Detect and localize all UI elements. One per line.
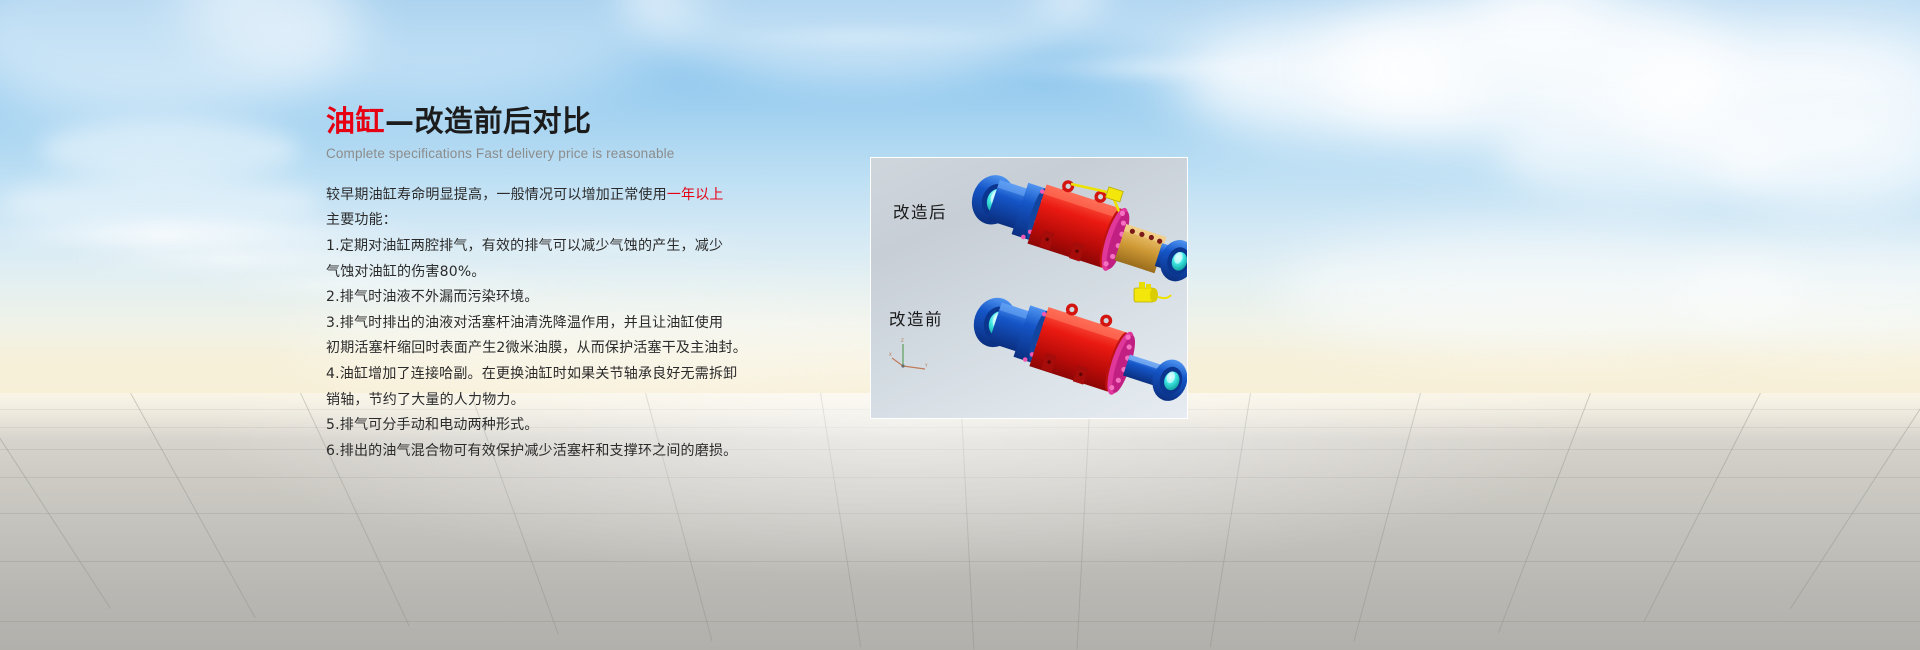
feature-text: 初期活塞杆缩回时表面产生2微米油膜，从而保护活塞干及主油封。: [326, 340, 747, 356]
tile-line-horizontal: [0, 477, 1920, 478]
page-subtitle: Complete specifications Fast delivery pr…: [326, 146, 866, 161]
cloud-wisp: [980, 60, 1400, 76]
label-before-modification: 改造前: [889, 306, 943, 330]
feature-line: 2.排气时油液不外漏而污染环境。: [326, 285, 866, 311]
ground-plane: [0, 393, 1920, 650]
feature-line: 主要功能：: [326, 208, 866, 234]
feature-emphasis: 一年以上: [667, 187, 724, 203]
cylinder-after-graphic: [959, 166, 1188, 288]
copy-block: 油缸—改造前后对比 Complete specifications Fast d…: [326, 104, 866, 464]
svg-text:Z: Z: [901, 338, 904, 343]
feature-text: 1.定期对油缸两腔排气，有效的排气可以减少气蚀的产生，减少: [326, 238, 723, 254]
page-title-rest: —改造前后对比: [385, 104, 592, 138]
feature-line: 1.定期对油缸两腔排气，有效的排气可以减少气蚀的产生，减少: [326, 234, 866, 260]
feature-line: 4.油缸增加了连接哈副。在更换油缸时如果关节轴承良好无需拆卸: [326, 362, 866, 388]
feature-text: 较早期油缸寿命明显提高，一般情况可以增加正常使用: [326, 187, 667, 203]
cloud-shape: [40, 120, 300, 180]
tile-line-horizontal: [0, 513, 1920, 514]
feature-text: 气蚀对油缸的伤害80%。: [326, 264, 486, 280]
feature-line: 较早期油缸寿命明显提高，一般情况可以增加正常使用一年以上: [326, 183, 866, 209]
label-after-modification: 改造后: [893, 199, 947, 223]
tile-line-vertical: [1354, 393, 1421, 641]
tile-line-horizontal: [0, 449, 1920, 450]
page-title-highlight: 油缸: [326, 104, 385, 138]
feature-line: 销轴，节约了大量的人力物力。: [326, 388, 866, 414]
feature-text: 主要功能：: [326, 212, 397, 228]
tile-line-vertical: [0, 393, 111, 609]
feature-text: 5.排气可分手动和电动两种形式。: [326, 417, 539, 433]
coordinate-axis-icon: Z X Y: [889, 336, 931, 374]
svg-text:X: X: [889, 352, 892, 357]
tile-line-vertical: [1210, 393, 1251, 647]
svg-text:Y: Y: [924, 363, 928, 368]
feature-text: 6.排出的油气混合物可有效保护减少活塞杆和支撑环之间的磨损。: [326, 443, 737, 459]
feature-text: 销轴，节约了大量的人力物力。: [326, 392, 525, 408]
product-comparison-panel: 改造后 改造前 Z X Y: [870, 157, 1188, 419]
feature-text: 4.油缸增加了连接哈副。在更换油缸时如果关节轴承良好无需拆卸: [326, 366, 737, 382]
tile-line-horizontal: [0, 561, 1920, 562]
tile-line-vertical: [960, 393, 974, 650]
page-title: 油缸—改造前后对比: [326, 104, 866, 139]
cloud-wisp: [700, 30, 1080, 44]
banner-stage: 油缸—改造前后对比 Complete specifications Fast d…: [0, 0, 1920, 650]
feature-line: 6.排出的油气混合物可有效保护减少活塞杆和支撑环之间的磨损。: [326, 439, 866, 465]
tile-line-horizontal: [0, 427, 1920, 428]
feature-line: 3.排气时排出的油液对活塞杆油清洗降温作用，并且让油缸使用: [326, 311, 866, 337]
tile-line-horizontal: [0, 621, 1920, 622]
tile-line-vertical: [1077, 393, 1091, 650]
tile-line-vertical: [1790, 393, 1920, 609]
feature-line: 初期活塞杆缩回时表面产生2微米油膜，从而保护活塞干及主油封。: [326, 336, 866, 362]
feature-text: 2.排气时油液不外漏而污染环境。: [326, 289, 539, 305]
cylinder-before-graphic: [961, 286, 1188, 412]
feature-line: 5.排气可分手动和电动两种形式。: [326, 413, 866, 439]
feature-text: 3.排气时排出的油液对活塞杆油清洗降温作用，并且让油缸使用: [326, 315, 723, 331]
feature-list: 较早期油缸寿命明显提高，一般情况可以增加正常使用一年以上 主要功能： 1.定期对…: [326, 183, 866, 465]
tile-grid: [0, 393, 1920, 650]
feature-line: 气蚀对油缸的伤害80%。: [326, 260, 866, 286]
